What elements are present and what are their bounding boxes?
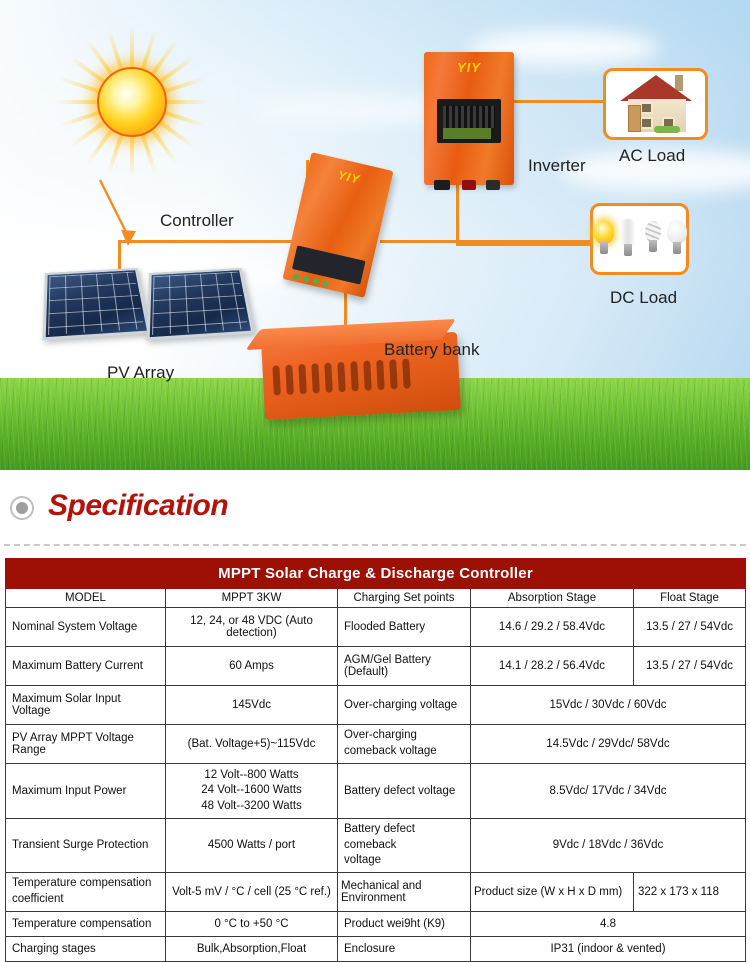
- header-absorption-stage: Absorption Stage: [471, 589, 634, 608]
- table-banner-row: MPPT Solar Charge & Discharge Controller: [6, 559, 746, 589]
- table-row: Charging stages Bulk,Absorption,Float En…: [6, 936, 746, 961]
- cell-float: 13.5 / 27 / 54Vdc: [634, 647, 746, 686]
- cell-param-name: Charging stages: [6, 936, 166, 961]
- pv-panel-left: [42, 268, 150, 340]
- cell-product-size-value: 322 x 173 x 118: [634, 872, 746, 911]
- header-float-stage: Float Stage: [634, 589, 746, 608]
- dc-load-card: [590, 203, 689, 275]
- cell-charge-param: Product wei9ht (K9): [338, 911, 471, 936]
- cell-charge-param: Battery defect voltage: [338, 764, 471, 819]
- led-bulb-icon: [666, 220, 686, 258]
- cell-param-value: 0 °C to +50 °C: [166, 911, 338, 936]
- bullet-radio-icon: [10, 496, 34, 520]
- cell-merged-value: IP31 (indoor & vented): [471, 936, 746, 961]
- spiral-cfl-icon: [642, 220, 662, 258]
- inverter-negative-terminal: [434, 180, 450, 190]
- label-battery-bank: Battery bank: [384, 340, 479, 360]
- table-row: Maximum Solar Input Voltage 145Vdc Over-…: [6, 686, 746, 725]
- label-controller: Controller: [160, 211, 234, 231]
- table-row: Temperature compensation coefficient Vol…: [6, 872, 746, 911]
- label-pv-array: PV Array: [107, 363, 174, 383]
- inverter-device: YIY: [424, 52, 514, 185]
- cell-param-name: PV Array MPPT Voltage Range: [6, 725, 166, 764]
- specification-heading: Specification: [0, 470, 750, 558]
- cell-param-value: 12, 24, or 48 VDC (Auto detection): [166, 608, 338, 647]
- cell-param-value: 4500 Watts / port: [166, 819, 338, 873]
- system-diagram: YIY Inverter YIY Controller PV Array Bat…: [0, 0, 750, 470]
- cell-param-name: Transient Surge Protection: [6, 819, 166, 873]
- table-row: PV Array MPPT Voltage Range (Bat. Voltag…: [6, 725, 746, 764]
- cell-float: 13.5 / 27 / 54Vdc: [634, 608, 746, 647]
- wire-inverter-down: [456, 183, 459, 245]
- table-row: Maximum Input Power 12 Volt--800 Watts 2…: [6, 764, 746, 819]
- ac-load-card: [603, 68, 708, 140]
- table-row: Temperature compensation 0 °C to +50 °C …: [6, 911, 746, 936]
- cell-absorption: 14.6 / 29.2 / 58.4Vdc: [471, 608, 634, 647]
- cell-charge-param: Battery defect comeback voltage: [338, 819, 471, 873]
- cell-param-name: Temperature compensation coefficient: [6, 872, 166, 911]
- cell-param-value: Volt-5 mV / °C / cell (25 °C ref.): [166, 872, 338, 911]
- wire-controller-to-dcload: [380, 240, 592, 243]
- table-banner: MPPT Solar Charge & Discharge Controller: [6, 559, 746, 589]
- label-ac-load: AC Load: [619, 146, 685, 166]
- specification-table: MPPT Solar Charge & Discharge Controller…: [5, 558, 746, 962]
- cell-charge-param: Over-charging comeback voltage: [338, 725, 471, 764]
- cell-param-value: 12 Volt--800 Watts 24 Volt--1600 Watts 4…: [166, 764, 338, 819]
- cell-merged-value: 4.8: [471, 911, 746, 936]
- cell-param-value: (Bat. Voltage+5)~115Vdc: [166, 725, 338, 764]
- cell-absorption: 14.1 / 28.2 / 56.4Vdc: [471, 647, 634, 686]
- sun-icon: [52, 22, 212, 182]
- divider: [4, 544, 746, 546]
- header-charging-set-points: Charging Set points: [338, 589, 471, 608]
- cell-charge-param: AGM/Gel Battery (Default): [338, 647, 471, 686]
- battery-vents: [272, 358, 410, 395]
- tube-cfl-icon: [617, 219, 637, 259]
- label-dc-load: DC Load: [610, 288, 677, 308]
- cell-param-name: Maximum Input Power: [6, 764, 166, 819]
- cell-charge-param: Mechanical and Environment: [338, 872, 471, 911]
- cell-param-name: Maximum Battery Current: [6, 647, 166, 686]
- wire-inverter-to-acload: [514, 100, 604, 103]
- inverter-display: [437, 99, 501, 143]
- specification-table-wrap: MPPT Solar Charge & Discharge Controller…: [0, 558, 750, 962]
- pv-panel-right: [146, 268, 254, 340]
- inverter-brand-logo: YIY: [424, 60, 514, 75]
- cell-param-name: Temperature compensation: [6, 911, 166, 936]
- cell-merged-value: 9Vdc / 18Vdc / 36Vdc: [471, 819, 746, 873]
- house-icon: [618, 73, 694, 135]
- controller-brand-logo: YIY: [307, 161, 392, 194]
- inverter-output-port: [486, 180, 500, 190]
- controller-device: YIY: [282, 152, 393, 298]
- header-mppt-3kw: MPPT 3KW: [166, 589, 338, 608]
- cell-param-value: Bulk,Absorption,Float: [166, 936, 338, 961]
- cell-product-size-label: Product size (W x H x D mm): [471, 872, 634, 911]
- cell-param-value: 60 Amps: [166, 647, 338, 686]
- table-header-row: MODEL MPPT 3KW Charging Set points Absor…: [6, 589, 746, 608]
- cell-param-value: 145Vdc: [166, 686, 338, 725]
- cell-merged-value: 8.5Vdc/ 17Vdc / 34Vdc: [471, 764, 746, 819]
- cell-charge-param: Enclosure: [338, 936, 471, 961]
- cell-param-name: Nominal System Voltage: [6, 608, 166, 647]
- wire-bus-horizontal: [118, 240, 308, 243]
- wire-inverter-bottom-run: [456, 243, 591, 246]
- table-row: Nominal System Voltage 12, 24, or 48 VDC…: [6, 608, 746, 647]
- incandescent-bulb-icon: [593, 220, 613, 258]
- cell-param-name: Maximum Solar Input Voltage: [6, 686, 166, 725]
- section-title: Specification: [48, 489, 228, 523]
- cell-merged-value: 14.5Vdc / 29Vdc/ 58Vdc: [471, 725, 746, 764]
- cell-merged-value: 15Vdc / 30Vdc / 60Vdc: [471, 686, 746, 725]
- inverter-grill: [443, 106, 495, 128]
- label-inverter: Inverter: [528, 156, 586, 176]
- inverter-lcd: [443, 128, 491, 139]
- cell-charge-param: Flooded Battery: [338, 608, 471, 647]
- table-row: Maximum Battery Current 60 Amps AGM/Gel …: [6, 647, 746, 686]
- table-row: Transient Surge Protection 4500 Watts / …: [6, 819, 746, 873]
- header-model: MODEL: [6, 589, 166, 608]
- cell-charge-param: Over-charging voltage: [338, 686, 471, 725]
- inverter-positive-terminal: [462, 180, 476, 190]
- sun-core: [97, 67, 167, 137]
